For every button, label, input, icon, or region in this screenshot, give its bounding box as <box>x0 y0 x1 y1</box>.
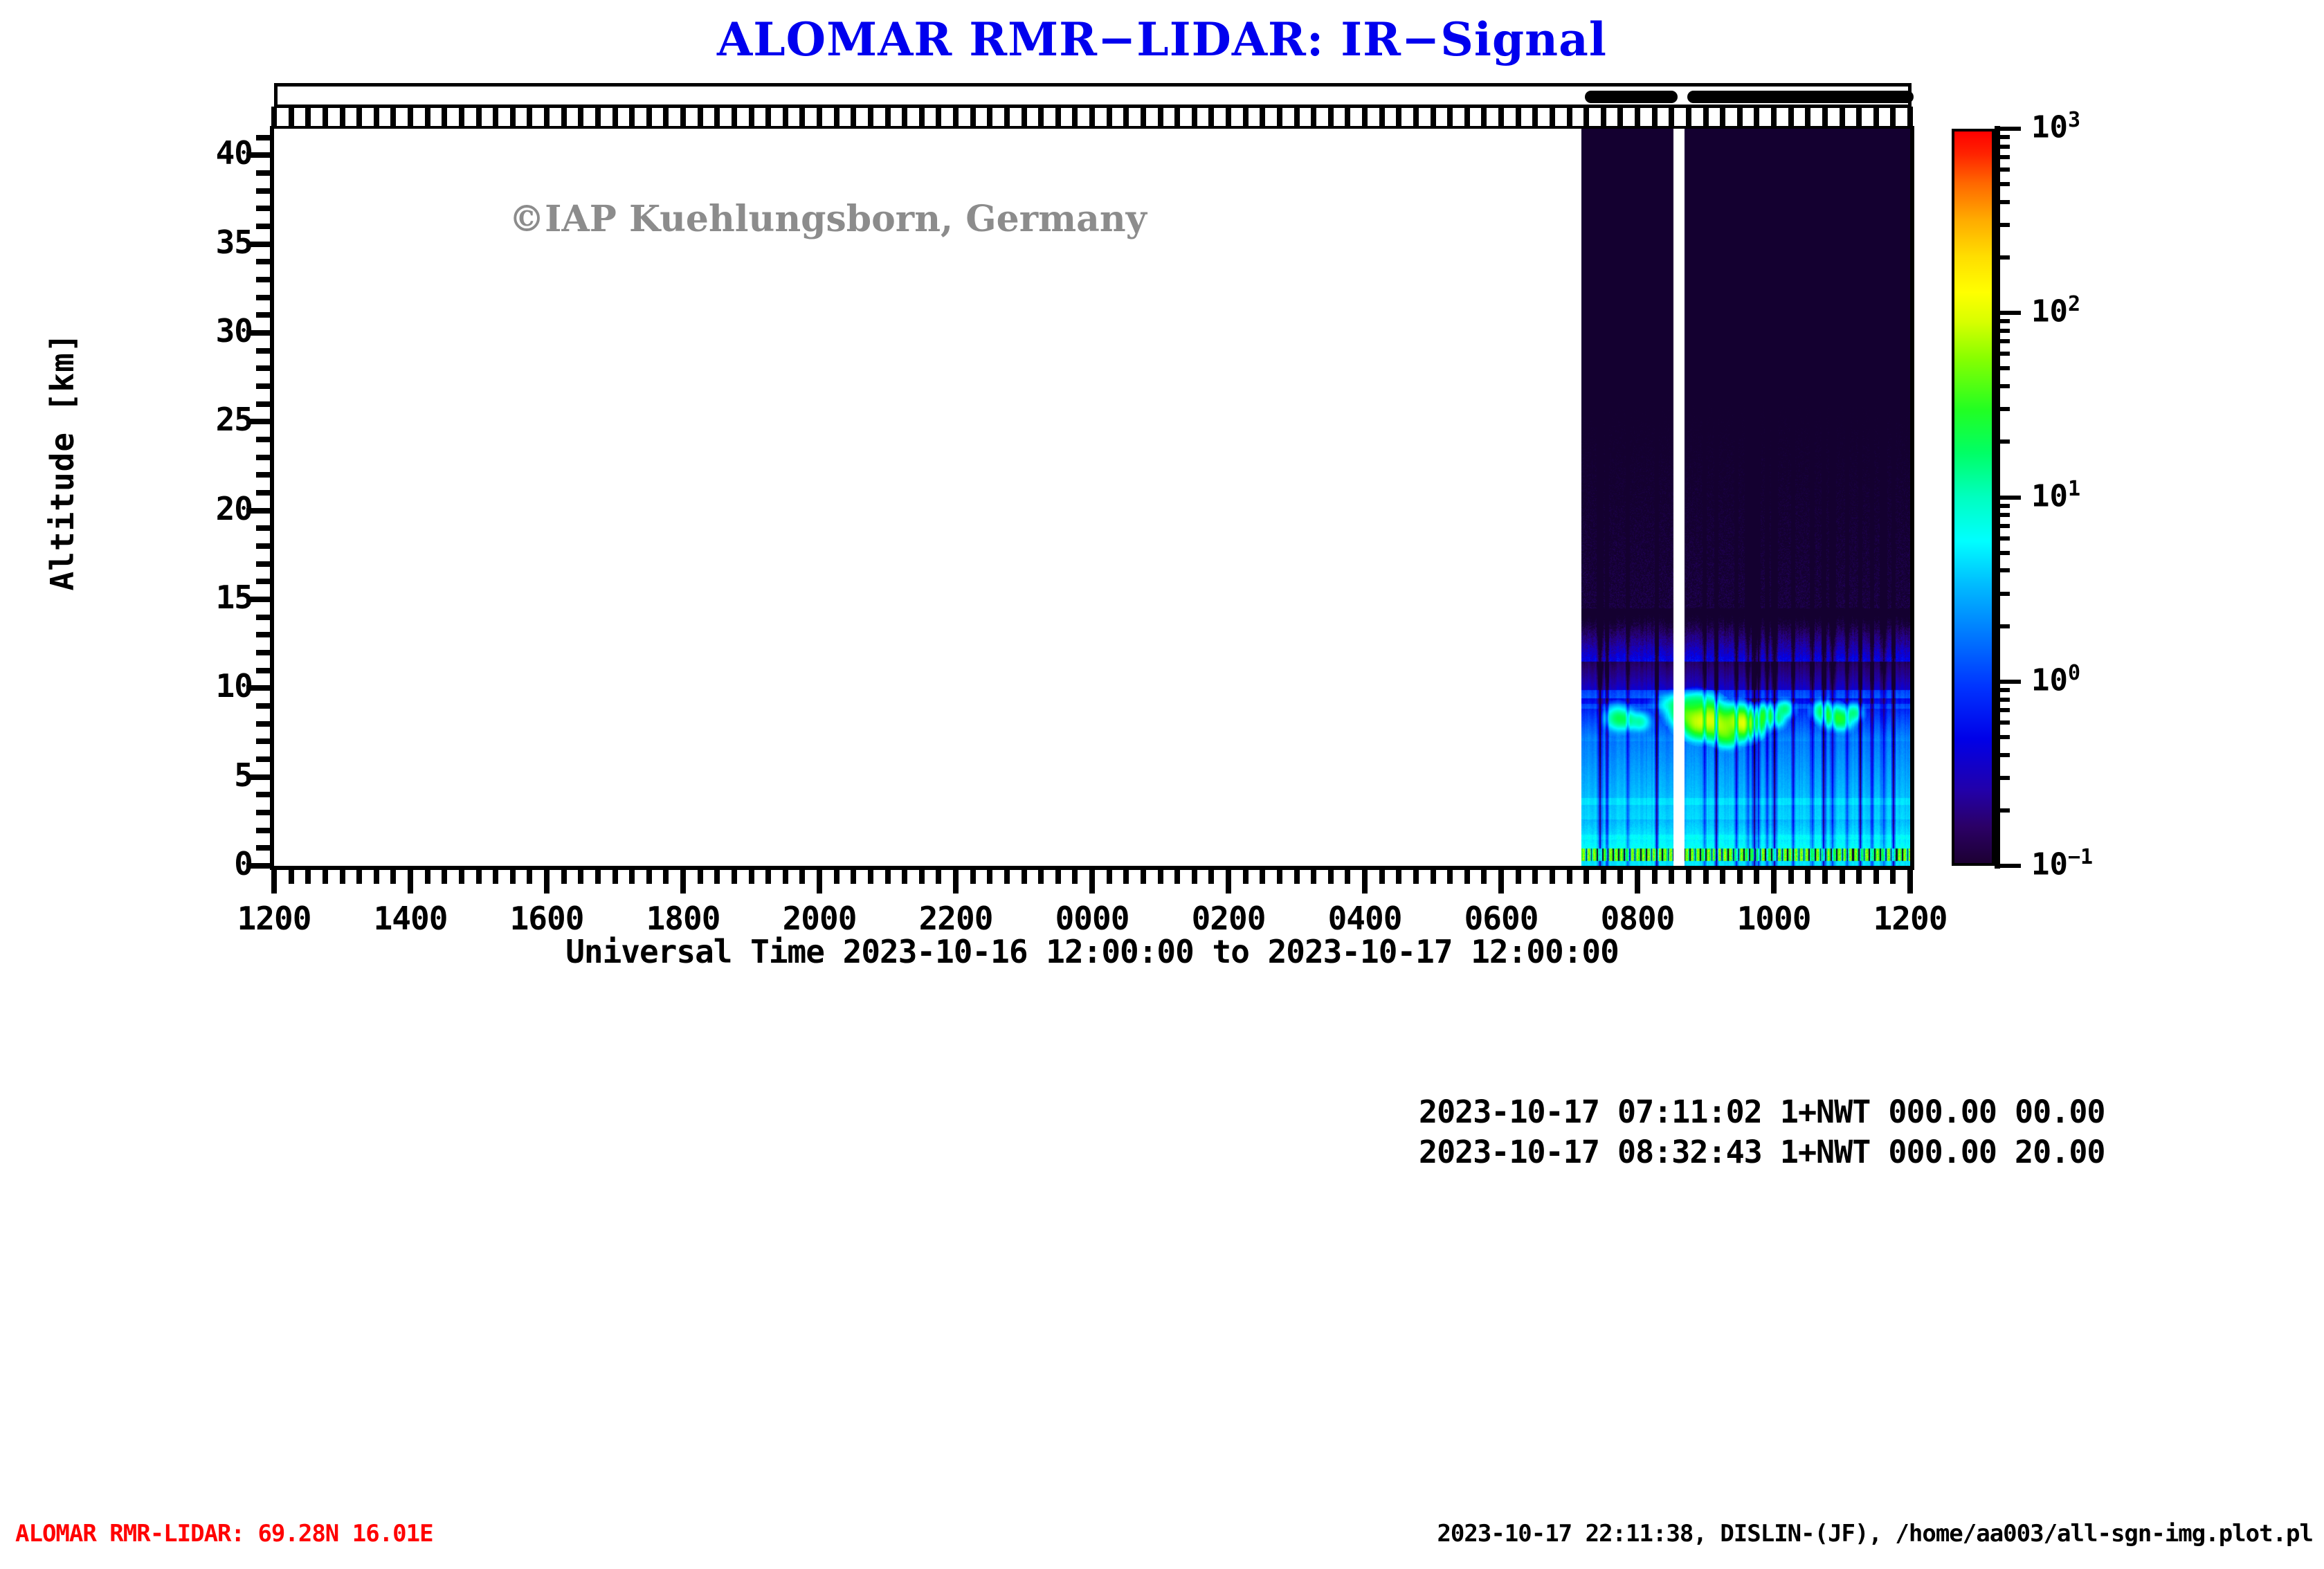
x-top-tick <box>493 107 498 127</box>
y-minor-tick <box>256 615 274 620</box>
x-top-tick <box>1635 107 1640 127</box>
x-top-tick <box>1431 107 1436 127</box>
x-tick-label: 0000 <box>1016 900 1168 937</box>
y-minor-tick <box>256 561 274 567</box>
x-minor-tick <box>1294 866 1300 884</box>
x-top-tick <box>646 107 652 127</box>
colorbar-minor-tick <box>1995 135 2010 139</box>
y-minor-tick <box>256 810 274 815</box>
colorbar-minor-tick <box>1995 688 2010 692</box>
x-top-tick <box>714 107 720 127</box>
x-tick-label: 0200 <box>1152 900 1305 937</box>
x-minor-tick <box>1822 866 1828 884</box>
x-tick-label: 1600 <box>471 900 623 937</box>
x-major-tick <box>680 866 686 894</box>
y-minor-tick <box>256 490 274 496</box>
x-tick-label: 2200 <box>880 900 1032 937</box>
x-top-tick <box>1567 107 1572 127</box>
x-top-tick <box>527 107 532 127</box>
colorbar-minor-tick <box>1995 536 2010 541</box>
x-top-tick <box>459 107 464 127</box>
y-minor-tick <box>256 756 274 762</box>
y-tick-label: 10 <box>216 667 253 705</box>
x-top-tick <box>1686 107 1691 127</box>
x-minor-tick <box>561 866 567 884</box>
colorbar-minor-tick <box>1995 592 2010 596</box>
x-top-tick <box>1890 107 1896 127</box>
y-minor-tick <box>256 383 274 389</box>
x-top-tick <box>1345 107 1350 127</box>
colorbar-gradient <box>1952 129 1995 866</box>
x-top-tick <box>1669 107 1674 127</box>
y-minor-tick <box>256 188 274 194</box>
x-top-tick <box>629 107 635 127</box>
x-top-tick <box>289 107 294 127</box>
x-major-tick <box>1226 866 1231 894</box>
x-minor-tick <box>1174 866 1180 884</box>
colorbar-minor-tick <box>1995 698 2010 702</box>
x-top-tick <box>1532 107 1538 127</box>
x-top-tick <box>595 107 601 127</box>
x-top-tick <box>987 107 992 127</box>
y-minor-tick <box>256 703 274 709</box>
x-top-tick <box>1022 107 1027 127</box>
colorbar-major-tick <box>1995 496 2021 500</box>
x-minor-tick <box>1720 866 1725 884</box>
page-title: ALOMAR RMR−LIDAR: IR−Signal <box>0 12 2324 66</box>
colorbar-minor-tick <box>1995 753 2010 757</box>
y-tick-label: 15 <box>216 579 253 616</box>
colorbar-major-tick <box>1995 680 2021 684</box>
y-minor-tick <box>256 312 274 318</box>
colorbar-minor-tick <box>1995 182 2010 186</box>
x-minor-tick <box>1123 866 1129 884</box>
x-minor-tick <box>527 866 532 884</box>
x-top-tick <box>1703 107 1709 127</box>
x-minor-tick <box>442 866 447 884</box>
x-minor-tick <box>425 866 430 884</box>
copyright-watermark: ©IAP Kuehlungsborn, Germany <box>274 198 1381 240</box>
colorbar-minor-tick <box>1995 407 2010 411</box>
x-top-tick <box>340 107 345 127</box>
x-minor-tick <box>936 866 941 884</box>
y-minor-tick <box>256 401 274 407</box>
x-major-tick <box>1362 866 1368 894</box>
x-minor-tick <box>476 866 482 884</box>
y-minor-tick <box>256 437 274 442</box>
x-top-tick <box>1208 107 1214 127</box>
y-minor-tick <box>256 206 274 211</box>
x-top-tick <box>578 107 583 127</box>
x-minor-tick <box>1311 866 1316 884</box>
y-tick-labels: 0510152025303540 <box>104 0 253 1569</box>
x-minor-tick <box>646 866 652 884</box>
x-minor-tick <box>1583 866 1589 884</box>
colorbar-minor-tick <box>1995 551 2010 555</box>
x-top-tick <box>1055 107 1061 127</box>
x-minor-tick <box>1277 866 1282 884</box>
x-minor-tick <box>1208 866 1214 884</box>
x-minor-tick <box>749 866 754 884</box>
y-minor-tick <box>256 295 274 300</box>
colorbar-minor-tick <box>1995 223 2010 227</box>
x-top-tick <box>374 107 379 127</box>
colorbar-tick-label: 102 <box>2031 292 2080 329</box>
colorbar-minor-tick <box>1995 439 2010 444</box>
y-minor-tick <box>256 721 274 727</box>
x-top-tick <box>919 107 925 127</box>
x-top-tick <box>765 107 771 127</box>
x-minor-tick <box>1243 866 1249 884</box>
x-top-tick <box>1754 107 1759 127</box>
x-tick-label: 0800 <box>1561 900 1714 937</box>
x-minor-tick <box>1703 866 1709 884</box>
x-minor-tick <box>1345 866 1350 884</box>
x-top-tick <box>1720 107 1725 127</box>
x-tick-label: 1000 <box>1698 900 1850 937</box>
colorbar-minor-tick <box>1995 720 2010 725</box>
x-top-tick <box>970 107 976 127</box>
x-minor-tick <box>1431 866 1436 884</box>
x-minor-tick <box>578 866 583 884</box>
y-minor-tick <box>256 828 274 833</box>
y-tick-label: 35 <box>216 224 253 261</box>
x-top-tick <box>1328 107 1334 127</box>
x-top-tick <box>425 107 430 127</box>
y-minor-tick <box>256 472 274 478</box>
x-major-tick <box>271 866 277 894</box>
x-top-tick <box>1004 107 1010 127</box>
x-minor-tick <box>1328 866 1334 884</box>
x-top-tick <box>1107 107 1112 127</box>
x-top-tick <box>749 107 754 127</box>
x-major-tick <box>1771 866 1777 894</box>
y-minor-tick <box>256 845 274 851</box>
y-minor-tick <box>256 525 274 531</box>
x-top-tick <box>1822 107 1828 127</box>
colorbar-minor-tick <box>1995 200 2010 204</box>
colorbar-minor-tick <box>1995 735 2010 739</box>
y-tick-label: 20 <box>216 490 253 527</box>
x-minor-tick <box>1890 866 1896 884</box>
x-top-tick <box>817 107 822 127</box>
x-major-tick <box>1635 866 1640 894</box>
y-minor-tick <box>256 348 274 354</box>
x-top-tick <box>1123 107 1129 127</box>
x-minor-tick <box>1447 866 1453 884</box>
x-minor-tick <box>1038 866 1044 884</box>
x-minor-tick <box>1788 866 1794 884</box>
x-top-tick <box>1771 107 1777 127</box>
x-minor-tick <box>1107 866 1112 884</box>
x-tick-label: 0400 <box>1289 900 1441 937</box>
x-top-tick <box>1038 107 1044 127</box>
colorbar-minor-tick <box>1995 568 2010 572</box>
colorbar-major-tick <box>1995 864 2021 868</box>
x-top-tick <box>1550 107 1555 127</box>
x-top-tick <box>1788 107 1794 127</box>
x-minor-tick <box>510 866 516 884</box>
colorbar-minor-tick <box>1995 513 2010 517</box>
x-minor-tick <box>1686 866 1691 884</box>
x-minor-tick <box>1413 866 1419 884</box>
x-top-tick <box>442 107 447 127</box>
x-top-tick <box>1805 107 1810 127</box>
y-minor-tick <box>256 170 274 176</box>
x-minor-tick <box>1856 866 1862 884</box>
y-minor-tick <box>256 135 274 140</box>
x-top-tick <box>408 107 413 127</box>
x-top-tick <box>510 107 516 127</box>
x-top-tick <box>1583 107 1589 127</box>
y-minor-tick <box>256 632 274 637</box>
x-top-tick <box>1516 107 1521 127</box>
x-minor-tick <box>493 866 498 884</box>
x-top-tick <box>561 107 567 127</box>
x-top-tick <box>1243 107 1249 127</box>
colorbar-minor-tick <box>1995 167 2010 172</box>
y-minor-tick <box>256 365 274 371</box>
x-minor-tick <box>323 866 328 884</box>
x-minor-tick <box>1396 866 1401 884</box>
x-major-tick <box>1907 866 1913 894</box>
x-top-tick <box>476 107 482 127</box>
x-top-tick <box>885 107 891 127</box>
x-minor-tick <box>1260 866 1265 884</box>
y-tick-label: 40 <box>216 134 253 172</box>
x-minor-tick <box>612 866 618 884</box>
y-axis-title: Altitude [km] <box>44 302 81 621</box>
colorbar-minor-tick <box>1995 776 2010 780</box>
x-minor-tick <box>851 866 856 884</box>
x-top-tick <box>1840 107 1845 127</box>
x-top-tick <box>1907 107 1913 127</box>
x-top-tick <box>732 107 737 127</box>
lidar-heatmap-data <box>1581 129 1910 866</box>
x-top-tick <box>1089 107 1095 127</box>
x-minor-tick <box>459 866 464 884</box>
x-major-tick <box>408 866 413 894</box>
x-minor-tick <box>1669 866 1674 884</box>
y-tick-label: 25 <box>216 401 253 438</box>
x-top-tick <box>1072 107 1078 127</box>
x-top-tick <box>851 107 856 127</box>
colorbar-tick-label: 103 <box>2031 108 2080 145</box>
x-minor-tick <box>1072 866 1078 884</box>
x-minor-tick <box>595 866 601 884</box>
x-minor-tick <box>1532 866 1538 884</box>
x-top-tick <box>1413 107 1419 127</box>
x-top-tick <box>1158 107 1163 127</box>
x-minor-tick <box>1481 866 1487 884</box>
y-tick-label: 5 <box>234 756 253 794</box>
x-minor-tick <box>1141 866 1146 884</box>
x-minor-tick <box>1617 866 1623 884</box>
x-minor-tick <box>1158 866 1163 884</box>
x-top-tick <box>663 107 669 127</box>
measurement-bar <box>1687 91 1914 103</box>
x-minor-tick <box>1550 866 1555 884</box>
x-top-tick <box>1856 107 1862 127</box>
x-top-tick <box>1498 107 1504 127</box>
x-minor-tick <box>1516 866 1521 884</box>
y-minor-tick <box>256 259 274 264</box>
x-minor-tick <box>1873 866 1879 884</box>
x-minor-tick <box>629 866 635 884</box>
x-top-tick <box>1737 107 1743 127</box>
x-top-tick <box>799 107 805 127</box>
x-minor-tick <box>885 866 891 884</box>
x-tick-label: 1400 <box>334 900 487 937</box>
colorbar-minor-tick <box>1995 808 2010 813</box>
x-minor-tick <box>919 866 925 884</box>
x-top-tick <box>1192 107 1197 127</box>
x-tick-label: 1200 <box>1834 900 1986 937</box>
heatmap-canvas <box>1581 129 1910 866</box>
colorbar-minor-tick <box>1995 504 2010 508</box>
colorbar-major-tick <box>1995 311 2021 315</box>
x-top-tick <box>1311 107 1316 127</box>
x-minor-tick <box>1055 866 1061 884</box>
colorbar-minor-tick <box>1995 339 2010 343</box>
x-top-tick <box>1277 107 1282 127</box>
x-minor-tick <box>1840 866 1845 884</box>
x-top-tick <box>356 107 362 127</box>
x-major-tick <box>1089 866 1095 894</box>
x-top-tick <box>612 107 618 127</box>
x-top-tick <box>1396 107 1401 127</box>
x-top-tick <box>1481 107 1487 127</box>
x-top-tick <box>1873 107 1879 127</box>
x-tick-label: 2000 <box>743 900 896 937</box>
measurement-bar-track <box>274 83 1912 108</box>
x-top-tick <box>680 107 686 127</box>
x-minor-tick <box>765 866 771 884</box>
measurement-annotations: 2023-10-17 07:11:02 1+NWT 000.00 00.0020… <box>1419 1092 2105 1172</box>
x-top-tick <box>1652 107 1658 127</box>
colorbar-minor-tick <box>1995 708 2010 712</box>
x-minor-tick <box>340 866 345 884</box>
x-minor-tick <box>698 866 703 884</box>
x-top-tick <box>868 107 873 127</box>
x-top-tick <box>1464 107 1470 127</box>
x-top-tick <box>544 107 550 127</box>
x-top-tick <box>902 107 907 127</box>
x-minor-tick <box>902 866 907 884</box>
x-axis-title: Universal Time 2023-10-16 12:00:00 to 20… <box>274 933 1910 970</box>
y-minor-tick <box>256 543 274 549</box>
x-minor-tick <box>1652 866 1658 884</box>
x-minor-tick <box>1379 866 1385 884</box>
y-minor-tick <box>256 792 274 797</box>
annotation-line-2: 2023-10-17 08:32:43 1+NWT 000.00 20.00 <box>1419 1134 2105 1170</box>
x-minor-tick <box>1004 866 1010 884</box>
annotation-line-1: 2023-10-17 07:11:02 1+NWT 000.00 00.00 <box>1419 1094 2105 1130</box>
colorbar-minor-tick <box>1995 145 2010 149</box>
x-top-tick <box>390 107 396 127</box>
x-top-tick <box>1226 107 1231 127</box>
x-minor-tick <box>799 866 805 884</box>
x-minor-tick <box>987 866 992 884</box>
x-top-tick <box>1362 107 1368 127</box>
x-minor-tick <box>663 866 669 884</box>
x-minor-tick <box>1022 866 1027 884</box>
x-minor-tick <box>868 866 873 884</box>
x-minor-tick <box>289 866 294 884</box>
y-minor-tick <box>256 650 274 655</box>
x-top-tick <box>305 107 311 127</box>
x-minor-tick <box>1601 866 1606 884</box>
colorbar-minor-tick <box>1995 255 2010 260</box>
x-top-tick <box>1294 107 1300 127</box>
colorbar-minor-tick <box>1995 624 2010 628</box>
x-minor-tick <box>732 866 737 884</box>
x-major-tick <box>1498 866 1504 894</box>
x-minor-tick <box>970 866 976 884</box>
colorbar-minor-tick <box>1995 384 2010 388</box>
x-top-tick <box>1260 107 1265 127</box>
x-minor-tick <box>783 866 788 884</box>
x-minor-tick <box>1737 866 1743 884</box>
x-major-tick <box>544 866 550 894</box>
x-minor-tick <box>390 866 396 884</box>
colorbar-major-tick <box>1995 127 2021 131</box>
colorbar-tick-label: 100 <box>2031 661 2080 698</box>
x-minor-tick <box>1754 866 1759 884</box>
x-minor-tick <box>1805 866 1810 884</box>
x-minor-tick <box>834 866 839 884</box>
y-tick-label: 30 <box>216 312 253 350</box>
colorbar-tick-label: 101 <box>2031 477 2080 514</box>
x-minor-tick <box>374 866 379 884</box>
x-minor-tick <box>1464 866 1470 884</box>
x-minor-tick <box>1567 866 1572 884</box>
x-top-tick <box>1141 107 1146 127</box>
x-tick-label: 1800 <box>607 900 759 937</box>
colorbar-minor-tick <box>1995 155 2010 159</box>
x-minor-tick <box>356 866 362 884</box>
colorbar-minor-tick <box>1995 524 2010 528</box>
y-minor-tick <box>256 579 274 584</box>
x-top-tick <box>1617 107 1623 127</box>
measurement-bar <box>1585 91 1678 103</box>
colorbar-minor-tick <box>1995 366 2010 370</box>
x-top-tick <box>936 107 941 127</box>
x-top-tick <box>1601 107 1606 127</box>
x-top-tick <box>1379 107 1385 127</box>
x-top-tick <box>698 107 703 127</box>
colorbar-minor-tick <box>1995 319 2010 323</box>
x-top-tick <box>953 107 959 127</box>
y-minor-tick <box>256 277 274 282</box>
colorbar-minor-tick <box>1995 329 2010 333</box>
footer-generator-info: 2023-10-17 22:11:38, DISLIN-(JF), /home/… <box>1437 1520 2313 1548</box>
x-major-tick <box>953 866 959 894</box>
x-top-tick <box>1174 107 1180 127</box>
x-tick-label: 1200 <box>198 900 350 937</box>
x-top-tick <box>271 107 277 127</box>
x-top-tick <box>783 107 788 127</box>
x-minor-tick <box>714 866 720 884</box>
y-minor-tick <box>256 224 274 229</box>
footer-station-info: ALOMAR RMR-LIDAR: 69.28N 16.01E <box>15 1520 433 1548</box>
colorbar-minor-tick <box>1995 352 2010 356</box>
x-top-tick <box>834 107 839 127</box>
y-minor-tick <box>256 455 274 460</box>
colorbar-tick-label: 10−1 <box>2031 845 2093 882</box>
x-major-tick <box>817 866 822 894</box>
y-tick-label: 0 <box>234 845 253 882</box>
